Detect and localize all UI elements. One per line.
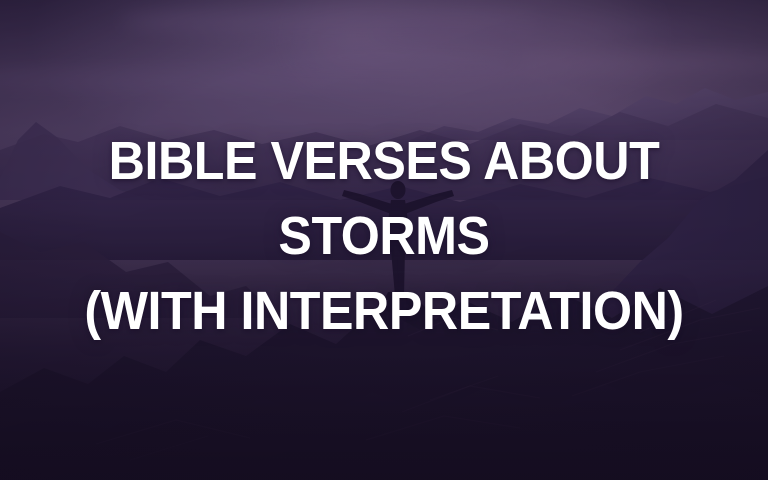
title-line-3: (With Interpretation) [27, 274, 741, 349]
title-line-2: Storms [27, 199, 741, 274]
title-line-1: Bible Verses About [27, 124, 741, 199]
featured-image-canvas: Bible Verses About Storms (With Interpre… [0, 0, 768, 480]
page-title: Bible Verses About Storms (With Interpre… [0, 124, 768, 349]
